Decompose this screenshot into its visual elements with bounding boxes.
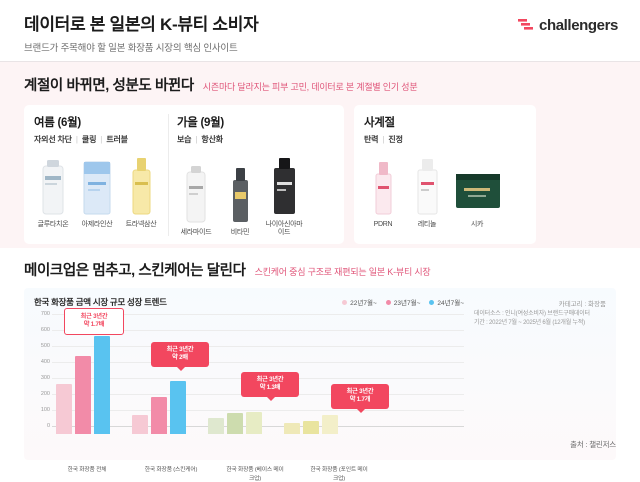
product-label: 세라마이드 — [177, 229, 215, 237]
tag: 자외선 차단 — [34, 134, 72, 145]
product-image-tube-grey — [177, 160, 215, 224]
chart-plot-area: 700 600 500 400 300 200 100 0 — [34, 314, 464, 434]
chart-title: 한국 화장품 금액 시장 규모 성장 트렌드 — [34, 296, 606, 308]
bar-group — [56, 336, 110, 434]
section1-description: 시즌마다 달라지는 피부 고민, 데이터로 본 계절별 인기 성분 — [203, 80, 418, 95]
product-list-allseason: PDRN 레티놀 — [364, 152, 526, 229]
bar — [322, 415, 338, 434]
season-tags-summer: 자외선 차단 | 쿨링 | 트러블 — [34, 134, 160, 145]
section2-description: 스킨케어 중심 구조로 재편되는 일본 K-뷰티 시장 — [255, 265, 431, 280]
source-text: 출처 : 챌린저스 — [570, 439, 616, 450]
season-tags-autumn: 보습 | 항산화 — [177, 134, 303, 145]
legend-swatch — [386, 300, 391, 305]
season-title-summer: 여름 (6월) — [34, 114, 160, 130]
product-label: 글루타치온 — [34, 221, 72, 229]
bar — [94, 336, 110, 434]
section1-title: 계절이 바뀌면, 성분도 바뀐다 — [24, 74, 194, 95]
bar — [132, 415, 148, 434]
season-title-allseason: 사계절 — [364, 114, 526, 130]
product-label: 아제라인산 — [78, 221, 116, 229]
tag: 항산화 — [201, 134, 222, 145]
product-label: 나이아신아마이드 — [265, 221, 303, 236]
chart-annotation: 최근 3년간 약 1.3배 — [241, 372, 299, 397]
product-label: 시카 — [452, 221, 502, 229]
season-card-list: 여름 (6월) 자외선 차단 | 쿨링 | 트러블 — [24, 105, 616, 244]
tag: 보습 — [177, 134, 191, 145]
product-image-tube-white — [34, 152, 72, 216]
tag-separator: | — [76, 135, 78, 144]
product-image-bottle-yellow — [122, 152, 160, 216]
product-image-box-green — [452, 152, 502, 216]
product-item: 아제라인산 — [78, 152, 116, 229]
legend-label: 22년7월~ — [350, 297, 377, 307]
season-group-summer: 여름 (6월) 자외선 차단 | 쿨링 | 트러블 — [34, 114, 160, 236]
section1-head: 계절이 바뀌면, 성분도 바뀐다 시즌마다 달라지는 피부 고민, 데이터로 본… — [24, 74, 616, 95]
bar — [284, 423, 300, 434]
bar — [303, 421, 319, 434]
legend-label: 24년7월~ — [437, 297, 464, 307]
tag: 진정 — [388, 134, 402, 145]
product-label: PDRN — [364, 221, 402, 229]
logo-text: challengers — [539, 17, 618, 34]
product-image-ampoule-pink — [364, 152, 402, 216]
tag: 트러블 — [106, 134, 127, 145]
product-image-bottle-white — [408, 152, 446, 216]
bar — [56, 384, 72, 434]
tag-separator: | — [195, 135, 197, 144]
legend-label: 23년7월~ — [394, 297, 421, 307]
legend-swatch — [342, 300, 347, 305]
x-label: 한국 화장품 (베이스 메이크업) — [224, 464, 286, 482]
chart-legend: 22년7월~ 23년7월~ 24년7월~ — [342, 297, 464, 307]
chart-panel: 한국 화장품 금액 시장 규모 성장 트렌드 22년7월~ 23년7월~ 24년… — [24, 288, 616, 460]
bar — [170, 381, 186, 434]
bar-group — [132, 381, 186, 434]
bar — [246, 412, 262, 434]
annotation-text: 최근 3년간 약 1.3배 — [257, 376, 284, 391]
product-item: 세라마이드 — [177, 160, 215, 237]
product-item: 레티놀 — [408, 152, 446, 229]
section-seasonal-ingredients: 계절이 바뀌면, 성분도 바뀐다 시즌마다 달라지는 피부 고민, 데이터로 본… — [0, 62, 640, 248]
product-label: 트라넥삼산 — [122, 221, 160, 229]
product-label: 레티놀 — [408, 221, 446, 229]
chart-x-labels: 한국 화장품 전체 한국 화장품 (스킨케어) 한국 화장품 (베이스 메이크업… — [56, 464, 370, 482]
legend-item: 24년7월~ — [429, 297, 464, 307]
product-item: 시카 — [452, 152, 502, 229]
product-item: 트라넥삼산 — [122, 152, 160, 229]
tag-separator: | — [100, 135, 102, 144]
x-label: 한국 화장품 (포인트 메이크업) — [308, 464, 370, 482]
product-item: 나이아신아마이드 — [265, 152, 303, 236]
x-label: 한국 화장품 전체 — [56, 464, 118, 482]
chart-annotation: 최근 3년간 약 1.7개 — [331, 384, 389, 409]
product-list-autumn: 세라마이드 비타민 — [177, 152, 303, 236]
product-list-summer: 글루타치온 아제라인산 — [34, 152, 160, 229]
bar-group — [284, 415, 338, 434]
chart-note-head: 카테고리 : 화장품 — [559, 298, 606, 308]
section-market-trend: 메이크업은 멈추고, 스킨케어는 달린다 스킨케어 중심 구조로 재편되는 일본… — [0, 248, 640, 460]
page-root: 데이터로 본 일본의 K-뷰티 소비자 브랜드가 주목해야 할 일본 화장품 시… — [0, 0, 640, 480]
season-title-autumn: 가을 (9월) — [177, 114, 303, 130]
brand-logo: challengers — [518, 17, 618, 34]
chart-annotation: 최근 3년간 약 1.7배 — [64, 308, 124, 335]
legend-item: 23년7월~ — [386, 297, 421, 307]
chart-note: 데이터소스 : 인니(여성소비자) 브랜드구매데이터 기간 : 2022년 7월… — [474, 310, 606, 328]
product-image-bottle-black — [265, 152, 303, 216]
product-label: 비타민 — [221, 229, 259, 237]
season-card-summer-autumn: 여름 (6월) 자외선 차단 | 쿨링 | 트러블 — [24, 105, 344, 244]
annotation-text: 최근 3년간 약 1.7배 — [81, 313, 108, 328]
bar-group — [208, 412, 262, 434]
card-divider — [168, 114, 169, 236]
legend-item: 22년7월~ — [342, 297, 377, 307]
tag: 쿨링 — [82, 134, 96, 145]
bar — [208, 418, 224, 434]
annotation-text: 최근 3년간 약 2배 — [167, 346, 194, 361]
tag-separator: | — [382, 135, 384, 144]
page-subtitle: 브랜드가 주목해야 할 일본 화장품 시장의 핵심 인사이트 — [24, 40, 616, 54]
tag: 탄력 — [364, 134, 378, 145]
page-header: 데이터로 본 일본의 K-뷰티 소비자 브랜드가 주목해야 할 일본 화장품 시… — [0, 0, 640, 62]
product-image-dropper-dark — [221, 160, 259, 224]
season-group-autumn: 가을 (9월) 보습 | 항산화 — [177, 114, 303, 236]
bar — [227, 413, 243, 434]
product-item: 비타민 — [221, 160, 259, 237]
season-card-allseason: 사계절 탄력 | 진정 PDRN — [354, 105, 536, 244]
legend-swatch — [429, 300, 434, 305]
section2-head: 메이크업은 멈추고, 스킨케어는 달린다 스킨케어 중심 구조로 재편되는 일본… — [24, 259, 616, 280]
product-item: PDRN — [364, 152, 402, 229]
product-item: 글루타치온 — [34, 152, 72, 229]
annotation-text: 최근 3년간 약 1.7개 — [347, 388, 374, 403]
season-tags-allseason: 탄력 | 진정 — [364, 134, 526, 145]
x-label: 한국 화장품 (스킨케어) — [140, 464, 202, 482]
challengers-bars-icon — [518, 18, 534, 33]
product-image-box-blue — [78, 152, 116, 216]
chart-annotation: 최근 3년간 약 2배 — [151, 342, 209, 367]
section2-title: 메이크업은 멈추고, 스킨케어는 달린다 — [24, 259, 246, 280]
bar — [151, 397, 167, 434]
bar — [75, 356, 91, 434]
